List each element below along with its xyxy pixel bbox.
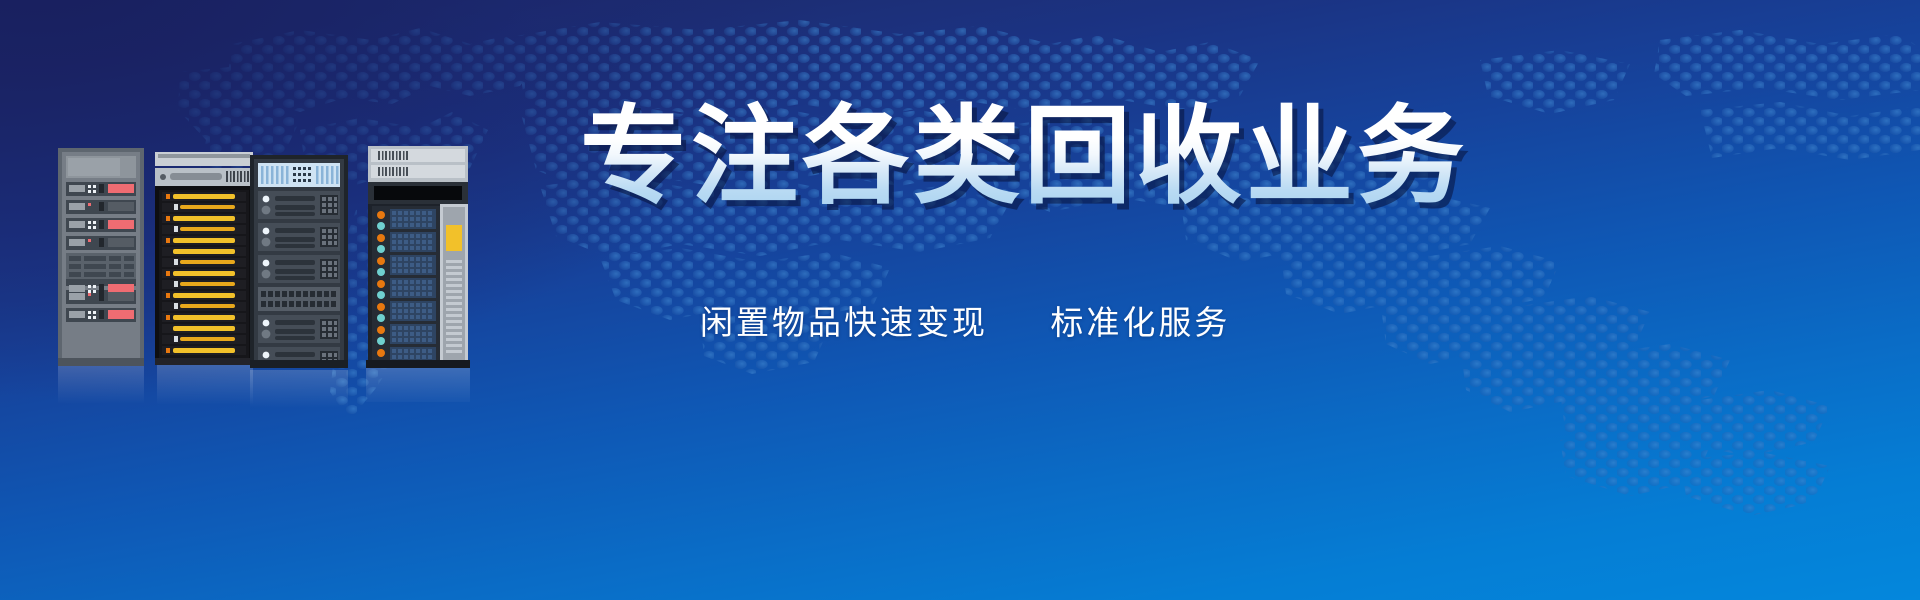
subtitle-right-text: 标准化服务 — [1050, 304, 1230, 341]
promo-banner: 专注各类回收业务 闲置物品快速变现 标准化服务 — [0, 0, 1920, 600]
subtitle-left-text: 闲置物品快速变现 — [700, 304, 988, 341]
rack-4 — [366, 146, 470, 408]
rack-3 — [250, 155, 348, 408]
rack-1 — [58, 148, 144, 404]
headline-text: 专注各类回收业务 — [580, 100, 1468, 213]
server-racks-illustration — [0, 0, 560, 600]
rack-2 — [155, 152, 253, 405]
headline-container: 专注各类回收业务 — [580, 92, 1420, 222]
subtitle-container: 闲置物品快速变现 标准化服务 — [700, 296, 1440, 344]
